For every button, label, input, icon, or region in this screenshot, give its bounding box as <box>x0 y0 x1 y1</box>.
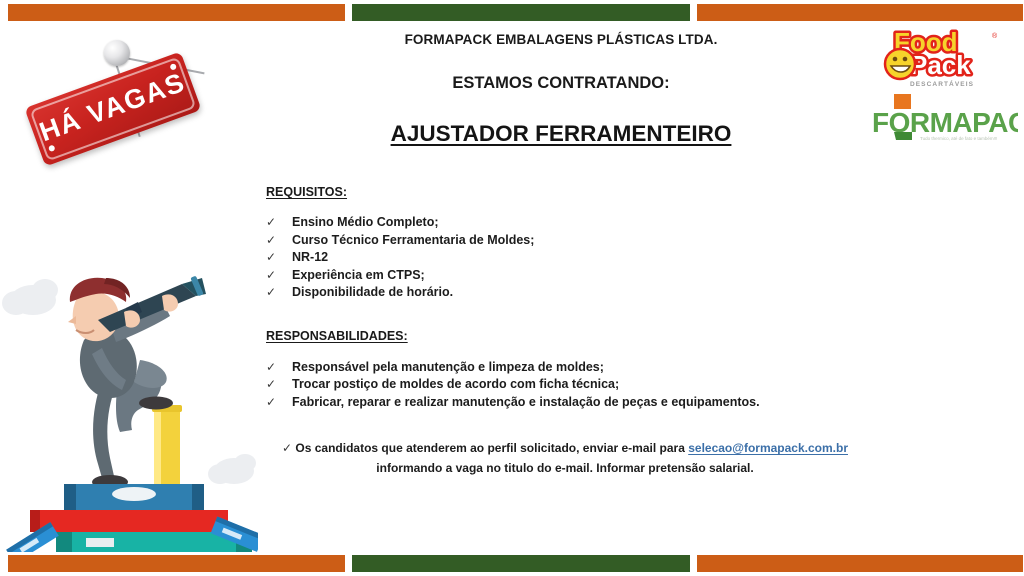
yellow-book-icon <box>152 405 182 496</box>
sign-hole-icon <box>169 63 177 71</box>
border-segment-green-center <box>352 555 690 572</box>
border-segment-orange-left <box>8 4 345 21</box>
logo-group: Food Food Pack Pack ® DESCARTÁVEIS FORMA… <box>864 26 1020 146</box>
check-icon: ✓ <box>266 394 292 412</box>
list-item-label: Responsável pela manutenção e limpeza de… <box>292 359 604 377</box>
border-segment-green-center <box>352 4 690 21</box>
check-icon: ✓ <box>266 359 292 377</box>
border-segment-orange-right <box>697 555 1023 572</box>
smiley-face-icon <box>885 49 915 79</box>
list-item: ✓Disponibilidade de horário. <box>266 284 864 302</box>
list-item-label: Experiência em CTPS; <box>292 267 425 285</box>
svg-text:Pack: Pack <box>910 50 971 80</box>
position-title: AJUSTADOR FERRAMENTEIRO <box>258 121 864 147</box>
requirements-heading: REQUISITOS: <box>266 185 864 199</box>
book-stack-icon <box>6 484 258 552</box>
foodpack-logo: Food Food Pack Pack ® <box>880 26 1004 82</box>
responsibilities-list: ✓Responsável pela manutenção e limpeza d… <box>258 359 864 412</box>
list-item-label: Disponibilidade de horário. <box>292 284 453 302</box>
list-item: ✓NR-12 <box>266 249 864 267</box>
list-item-label: Fabricar, reparar e realizar manutenção … <box>292 394 760 412</box>
formapack-logo: FORMAPACK Tudo thermico, até de fato e t… <box>866 92 1018 144</box>
list-item-label: Trocar postiço de moldes de acordo com f… <box>292 376 619 394</box>
application-instructions: ✓ Os candidatos que atenderem ao perfil … <box>258 438 864 478</box>
formapack-wordmark: FORMAPACK <box>872 107 1018 138</box>
job-posting-body: FORMAPACK EMBALAGENS PLÁSTICAS LTDA. EST… <box>258 22 864 554</box>
sign-hole-icon <box>48 144 56 152</box>
check-icon: ✓ <box>266 376 292 394</box>
check-icon: ✓ <box>266 284 292 302</box>
foodpack-word-bottom: Pack Pack <box>910 50 971 80</box>
foodpack-tagline: DESCARTÁVEIS <box>880 81 1004 88</box>
list-item: ✓Experiência em CTPS; <box>266 267 864 285</box>
list-item: ✓Responsável pela manutenção e limpeza d… <box>266 359 864 377</box>
list-item-label: Ensino Médio Completo; <box>292 214 439 232</box>
requirements-list: ✓Ensino Médio Completo; ✓Curso Técnico F… <box>258 214 864 302</box>
check-icon: ✓ <box>266 267 292 285</box>
hiring-headline: ESTAMOS CONTRATANDO: <box>258 74 864 93</box>
border-segment-orange-left <box>8 555 345 572</box>
list-item-label: NR-12 <box>292 249 328 267</box>
sign-label: HÁ VAGAS <box>29 65 196 151</box>
list-item: ✓Ensino Médio Completo; <box>266 214 864 232</box>
position-title-text: AJUSTADOR FERRAMENTEIRO <box>391 121 732 146</box>
man-with-telescope-on-books-illustration <box>6 262 258 552</box>
check-icon: ✓ <box>266 249 292 267</box>
formapack-tagline: Tudo thermico, até de fato e também!!! <box>920 136 997 141</box>
sign-nail-icon <box>104 40 130 66</box>
application-email-link[interactable]: selecao@formapack.com.br <box>688 441 848 455</box>
list-item: ✓Curso Técnico Ferramentaria de Moldes; <box>266 232 864 250</box>
formapack-green-shape <box>894 132 912 140</box>
bottom-border-bar <box>0 555 1024 572</box>
sign-plate: HÁ VAGAS <box>24 51 201 166</box>
top-border-bar <box>0 4 1024 21</box>
instructions-text-before: Os candidatos que atenderem ao perfil so… <box>295 441 684 455</box>
list-item: ✓Trocar postiço de moldes de acordo com … <box>266 376 864 394</box>
check-icon: ✓ <box>282 441 292 455</box>
list-item: ✓Fabricar, reparar e realizar manutenção… <box>266 394 864 412</box>
check-icon: ✓ <box>266 232 292 250</box>
registered-mark: ® <box>992 32 998 40</box>
ha-vagas-sign: HÁ VAGAS <box>18 30 228 180</box>
border-segment-orange-right <box>697 4 1023 21</box>
company-name: FORMAPACK EMBALAGENS PLÁSTICAS LTDA. <box>258 32 864 47</box>
responsibilities-heading: RESPONSABILIDADES: <box>266 329 864 343</box>
left-graphics-column: HÁ VAGAS <box>0 22 258 554</box>
list-item-label: Curso Técnico Ferramentaria de Moldes; <box>292 232 534 250</box>
check-icon: ✓ <box>266 214 292 232</box>
instructions-text-after: informando a vaga no titulo do e-mail. I… <box>376 461 753 475</box>
